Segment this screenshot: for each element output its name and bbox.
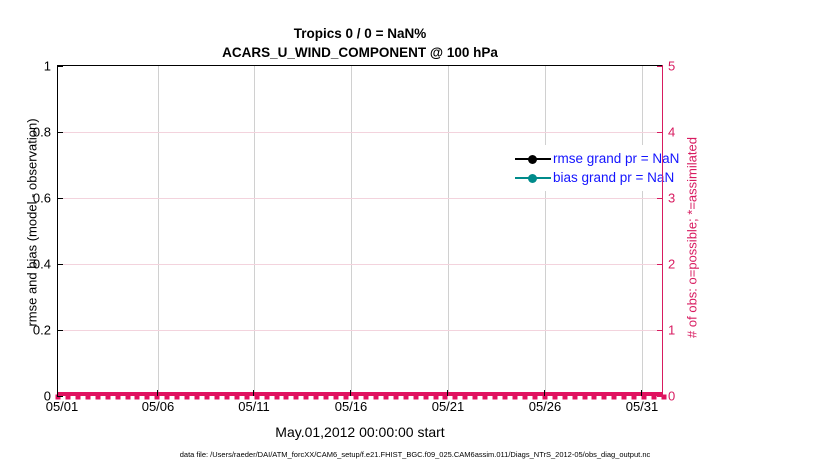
series-obs-counts [58,66,662,395]
obs-marker [324,395,329,400]
obs-marker [314,395,319,400]
gridline-vertical [158,66,159,395]
legend-marker-rmse-icon [515,152,551,166]
obs-marker [572,395,577,400]
tick-right [657,132,663,133]
legend-marker-bias-icon [515,171,551,185]
obs-marker [284,395,289,400]
right-tick-label: 4 [668,125,675,140]
tick-bottom [157,390,158,396]
right-tick-label: 2 [668,257,675,272]
obs-marker [413,395,418,400]
obs-marker [503,395,508,400]
x-tick-label: 05/01 [46,399,79,414]
legend-item-bias: bias grand pr = NaN [515,168,679,187]
obs-marker [294,395,299,400]
obs-marker [125,395,130,400]
obs-marker [602,395,607,400]
tick-left [57,66,63,67]
right-axis-title: # of obs: o=possible; *=assimilated [685,68,700,408]
tick-right [657,396,663,397]
x-axis-title: May.01,2012 00:00:00 start [57,424,663,440]
right-tick-label: 0 [668,389,675,404]
tick-left [57,330,63,331]
gridline-horizontal [58,330,662,331]
obs-marker [483,395,488,400]
x-tick-label: 05/26 [529,399,562,414]
gridline-horizontal [58,198,662,199]
obs-marker [493,395,498,400]
right-tick-label: 1 [668,323,675,338]
obs-marker [383,395,388,400]
tick-bottom [57,390,58,396]
chart-title-line-1: Tropics 0 / 0 = NaN% [57,24,663,43]
gridline-vertical [448,66,449,395]
obs-marker [512,395,517,400]
chart-title-line-2: ACARS_U_WIND_COMPONENT @ 100 hPa [57,43,663,62]
tick-left [57,264,63,265]
x-tick-label: 05/06 [142,399,175,414]
data-file-note: data file: /Users/raeder/DAI/ATM_forcXX/… [0,450,830,459]
gridline-vertical [545,66,546,395]
series-bias-grand [58,393,662,395]
obs-marker [135,395,140,400]
tick-left [57,198,63,199]
tick-right [657,198,663,199]
x-tick-label: 05/31 [626,399,659,414]
obs-marker [612,395,617,400]
right-tick-label: 5 [668,59,675,74]
obs-marker [95,395,100,400]
x-tick-label: 05/16 [335,399,368,414]
obs-marker [582,395,587,400]
gridline-vertical [254,66,255,395]
obs-marker [592,395,597,400]
obs-marker [85,395,90,400]
right-axis-spine [662,65,663,397]
tick-bottom [253,390,254,396]
plot-area: rmse grand pr = NaN bias grand pr = NaN [57,65,663,396]
obs-marker [175,395,180,400]
tick-right [657,264,663,265]
gridline-horizontal [58,132,662,133]
obs-marker [473,395,478,400]
obs-marker [205,395,210,400]
tick-right [657,66,663,67]
figure-canvas: Tropics 0 / 0 = NaN% ACARS_U_WIND_COMPON… [0,0,830,470]
obs-marker [403,395,408,400]
obs-marker [393,395,398,400]
obs-marker [214,395,219,400]
obs-marker [224,395,229,400]
obs-marker [185,395,190,400]
x-tick-label: 05/21 [432,399,465,414]
obs-marker [423,395,428,400]
tick-right [657,330,663,331]
right-tick-label: 3 [668,191,675,206]
chart-title: Tropics 0 / 0 = NaN% ACARS_U_WIND_COMPON… [57,24,663,62]
gridline-horizontal [58,264,662,265]
obs-marker [274,395,279,400]
legend-label-bias: bias grand pr = NaN [551,170,674,185]
legend-item-rmse: rmse grand pr = NaN [515,149,679,168]
obs-marker [373,395,378,400]
obs-marker [105,395,110,400]
gridline-vertical [642,66,643,395]
obs-marker [195,395,200,400]
x-tick-label: 05/11 [238,399,270,414]
obs-marker [304,395,309,400]
tick-left [57,132,63,133]
tick-bottom [350,390,351,396]
obs-marker [115,395,120,400]
tick-bottom [544,390,545,396]
left-axis-title: rmse and bias (model - observation) [25,53,40,393]
tick-bottom [641,390,642,396]
obs-marker [562,395,567,400]
tick-bottom [447,390,448,396]
tick-left [57,396,63,397]
obs-marker [522,395,527,400]
legend: rmse grand pr = NaN bias grand pr = NaN [510,145,685,191]
gridline-vertical [351,66,352,395]
legend-label-rmse: rmse grand pr = NaN [551,151,679,166]
